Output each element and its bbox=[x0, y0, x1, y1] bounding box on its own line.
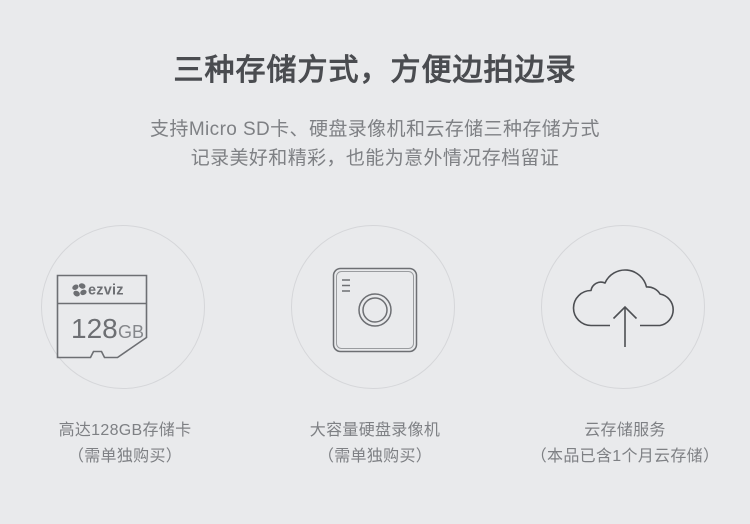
subtitle-line-2: 记录美好和精彩，也能为意外情况存档留证 bbox=[0, 145, 750, 172]
upload-arrow bbox=[614, 307, 637, 347]
caption-line-2: （本品已含1个月云存储） bbox=[500, 444, 750, 470]
ezviz-logo-mark bbox=[71, 282, 87, 297]
nvr-recorder-icon bbox=[250, 225, 500, 397]
caption-line-1: 云存储服务 bbox=[584, 422, 666, 439]
caption-line-2: （需单独购买） bbox=[250, 444, 500, 470]
feature-caption: 云存储服务 （本品已含1个月云存储） bbox=[500, 418, 750, 470]
feature-caption: 高达128GB存储卡 （需单独购买） bbox=[0, 418, 250, 470]
ezviz-wordmark: ezviz bbox=[88, 283, 124, 299]
caption-line-2: （需单独购买） bbox=[0, 444, 250, 470]
caption-line-1: 大容量硬盘录像机 bbox=[310, 422, 440, 439]
feature-caption: 大容量硬盘录像机 （需单独购买） bbox=[250, 418, 500, 470]
page-title: 三种存储方式，方便边拍边录 bbox=[0, 52, 750, 90]
feature-cloud: 云存储服务 （本品已含1个月云存储） bbox=[500, 225, 750, 515]
cloud-upload-icon bbox=[500, 225, 750, 397]
promo-page: 三种存储方式，方便边拍边录 支持Micro SD卡、硬盘录像机和云存储三种存储方… bbox=[0, 0, 750, 524]
micro-sd-card-icon: ezviz 128 GB bbox=[0, 225, 250, 397]
sd-capacity-number: 128 bbox=[71, 313, 118, 344]
feature-columns: ezviz 128 GB 高达128GB存储卡 （需单独购买） bbox=[0, 225, 750, 515]
sd-capacity-unit: GB bbox=[118, 322, 144, 342]
feature-sd-card: ezviz 128 GB 高达128GB存储卡 （需单独购买） bbox=[0, 225, 250, 515]
nvr-indicator-lines bbox=[342, 280, 350, 291]
feature-nvr: 大容量硬盘录像机 （需单独购买） bbox=[250, 225, 500, 515]
caption-line-1: 高达128GB存储卡 bbox=[59, 422, 192, 439]
subtitle-line-1: 支持Micro SD卡、硬盘录像机和云存储三种存储方式 bbox=[0, 116, 750, 143]
